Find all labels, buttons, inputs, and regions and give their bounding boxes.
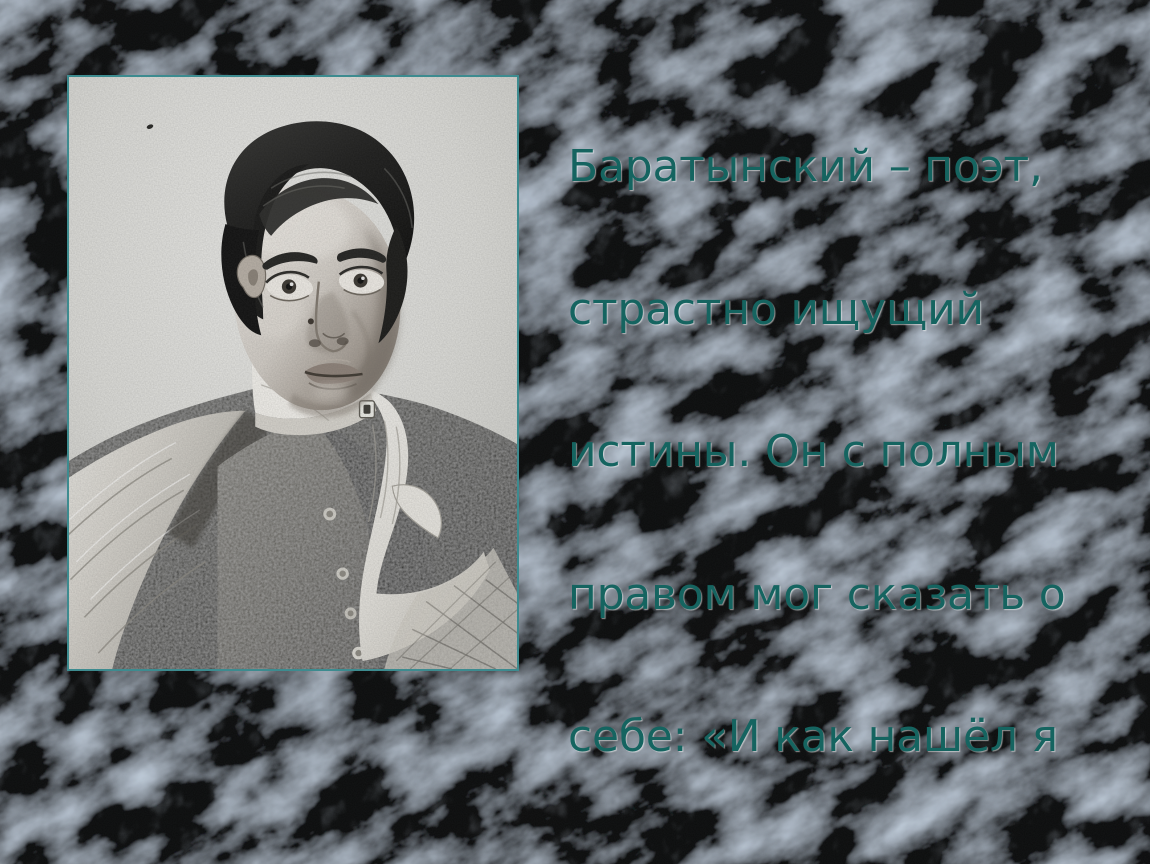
presentation-slide: Баратынский – поэт, страстно ищущий исти…: [0, 0, 1150, 864]
text-line: Баратынский – поэт,: [568, 143, 1146, 191]
text-line: истины. Он с полным: [568, 428, 1146, 476]
portrait-frame: [67, 75, 519, 671]
slide-body-text: Баратынский – поэт, страстно ищущий исти…: [568, 48, 1146, 864]
baratynsky-portrait-lithograph: [69, 77, 517, 669]
text-line: себе: «И как нашёл я: [568, 713, 1146, 761]
text-line: правом мог сказать о: [568, 571, 1146, 619]
text-line: страстно ищущий: [568, 286, 1146, 334]
text-line: друга в поколенье,: [568, 856, 1146, 864]
